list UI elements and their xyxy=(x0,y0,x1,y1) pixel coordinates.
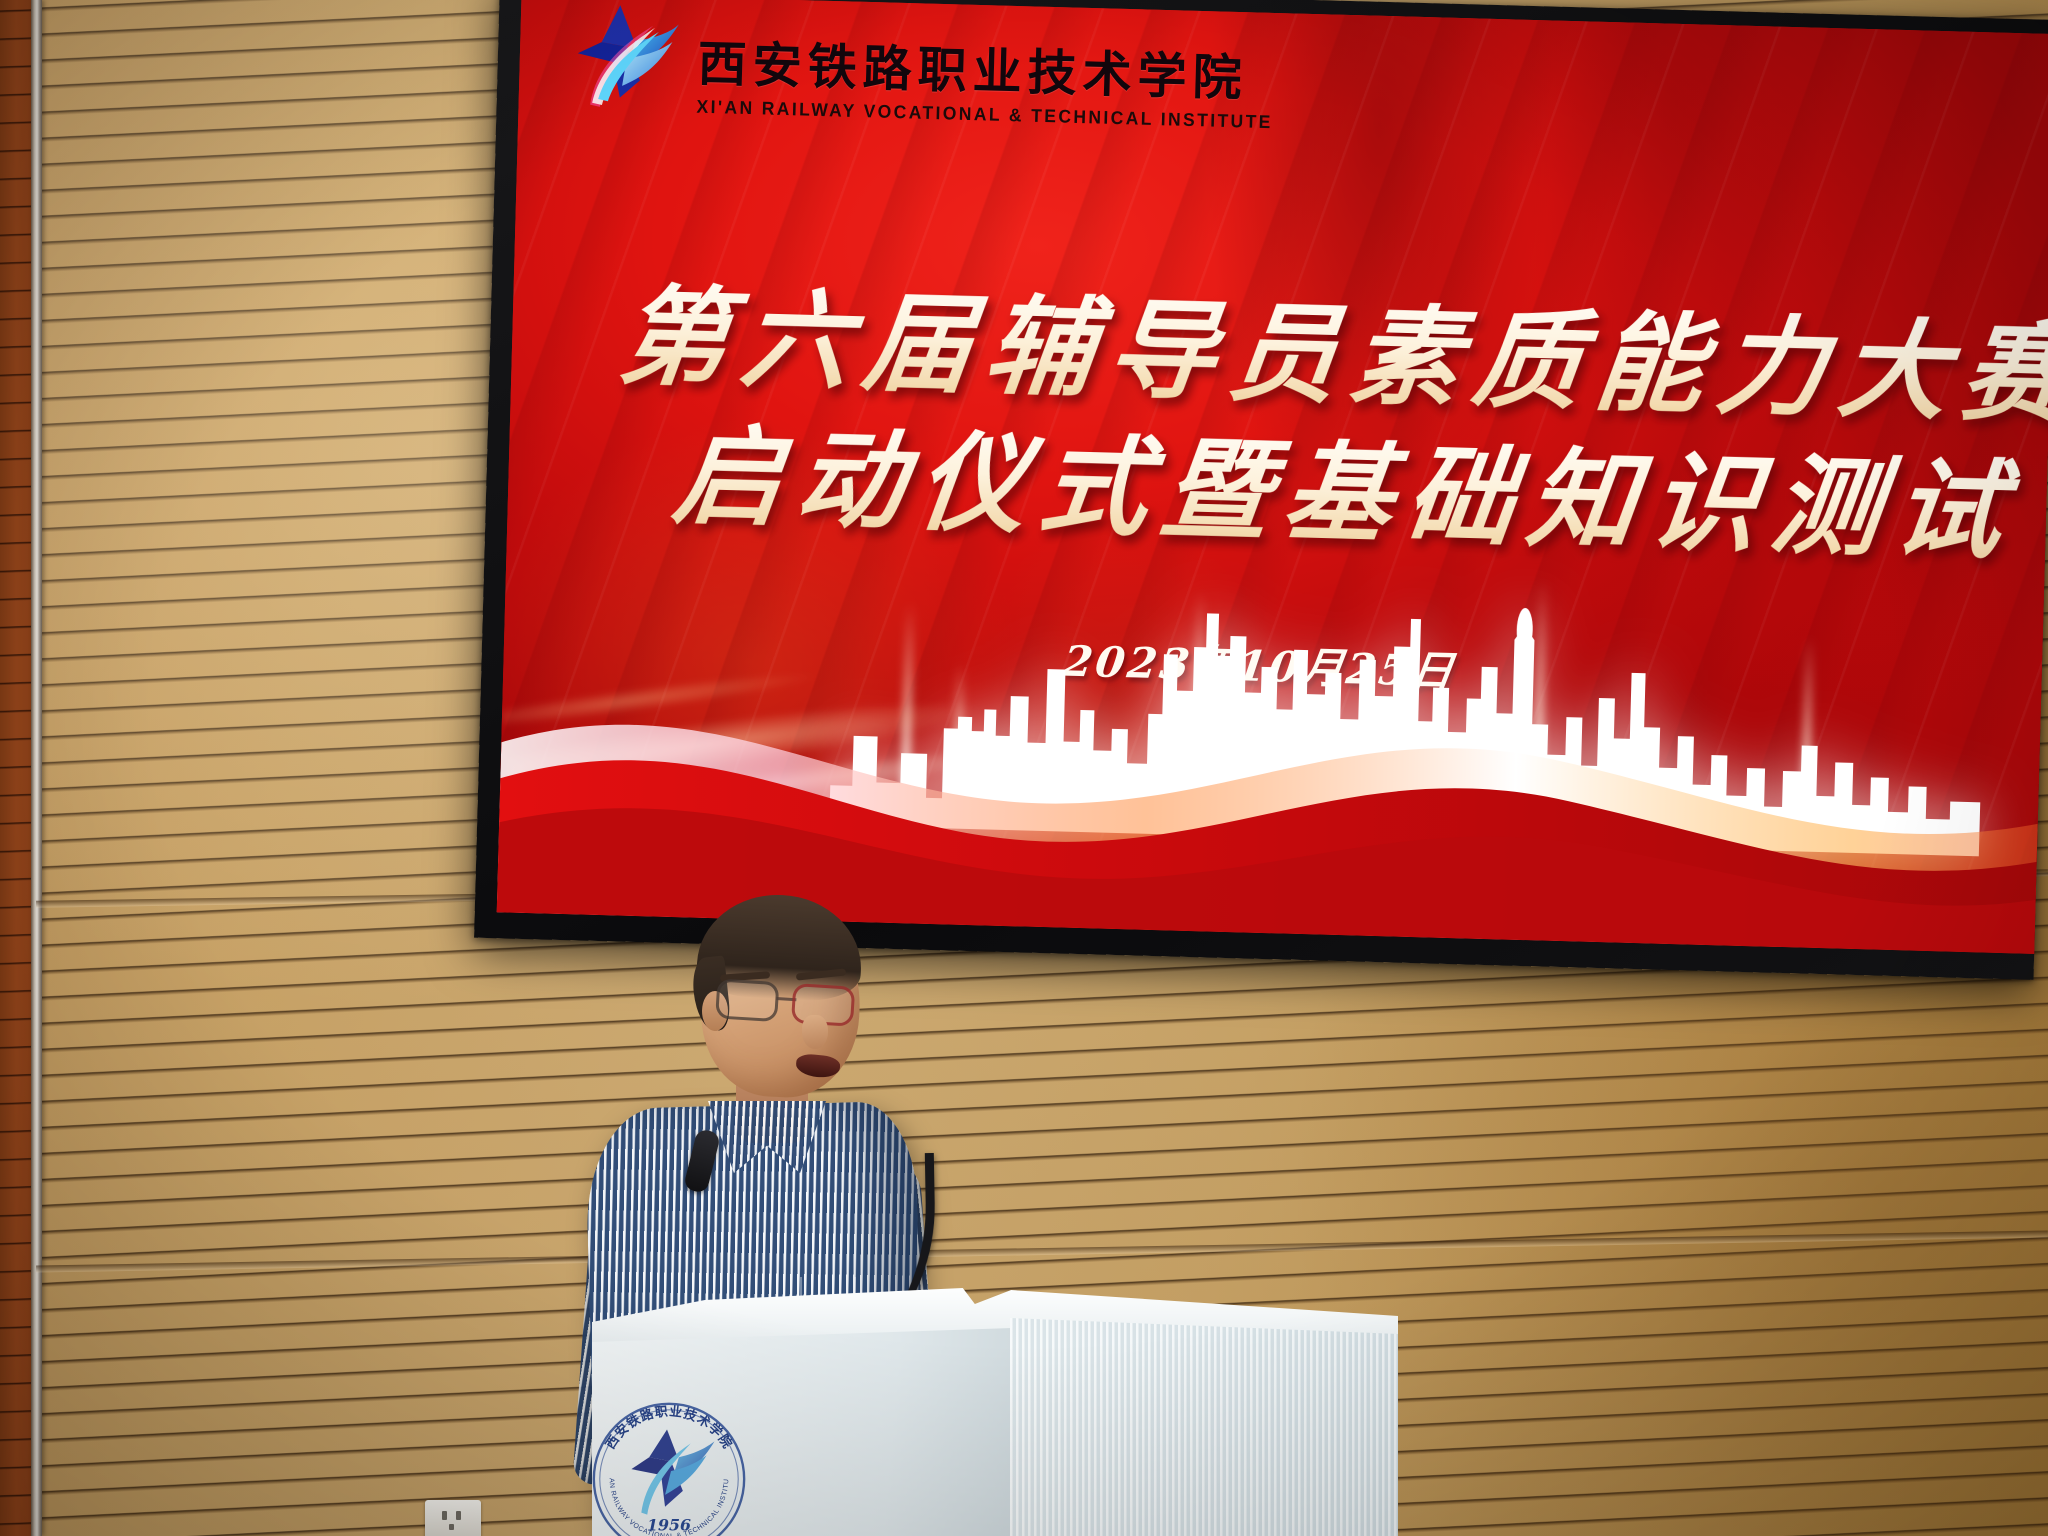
glasses-lens xyxy=(715,978,779,1022)
event-headline: 第六届辅导员素质能力大赛 启动仪式暨基础知识测试 xyxy=(615,267,2048,584)
institute-brand-block: 西安铁路职业技术学院 XI'AN RAILWAY VOCATIONAL & TE… xyxy=(560,2,1275,133)
xian-railway-star-logo xyxy=(560,2,681,117)
podium-right-panel xyxy=(1010,1318,1398,1536)
speaker-nose xyxy=(802,1015,828,1049)
screen-content: 西安铁路职业技术学院 XI'AN RAILWAY VOCATIONAL & TE… xyxy=(497,0,2048,954)
svg-text:1956: 1956 xyxy=(647,1515,691,1534)
auditorium-photo: 西安铁路职业技术学院 XI'AN RAILWAY VOCATIONAL & TE… xyxy=(0,0,2048,1536)
wall-power-outlet xyxy=(425,1500,481,1536)
xian-railway-institute-seal: 西安铁路职业技术学院 XI'AN RAILWAY VOCATIONAL & TE… xyxy=(580,1390,758,1536)
institute-name-block: 西安铁路职业技术学院 XI'AN RAILWAY VOCATIONAL & TE… xyxy=(696,5,1275,133)
institute-name-chinese: 西安铁路职业技术学院 xyxy=(697,39,1275,104)
speaker-glasses xyxy=(715,978,870,1033)
led-display-screen: 西安铁路职业技术学院 XI'AN RAILWAY VOCATIONAL & TE… xyxy=(474,0,2048,980)
wall-metal-trim xyxy=(31,0,42,1536)
